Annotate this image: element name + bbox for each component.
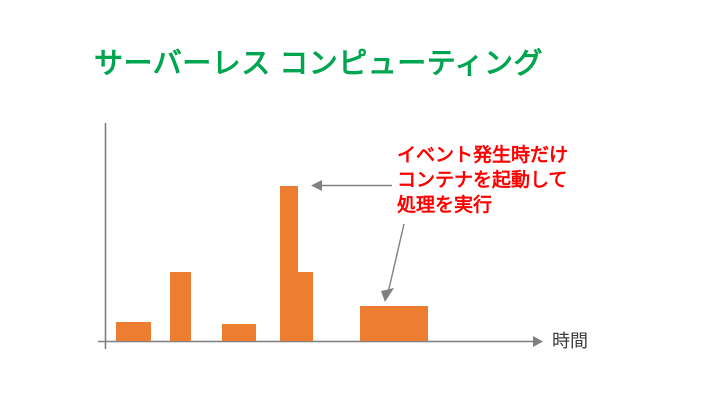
annotation-line-2: コンテナを起動して [397,168,568,193]
bar-chart: 時間 [0,0,719,413]
slide-canvas: サーバーレス コンピューティング 時間 イベント発生時だけ コンテ [0,0,719,413]
annotation-line-3: 処理を実行 [397,193,568,218]
bar-5 [298,272,313,341]
bar-3 [222,324,256,341]
bar-6 [360,306,428,341]
bar-4 [280,186,298,341]
annotation-callout: イベント発生時だけ コンテナを起動して 処理を実行 [397,143,568,218]
bar-1 [116,322,151,341]
bar-2 [170,272,191,341]
annotation-line-1: イベント発生時だけ [397,143,568,168]
x-axis-label: 時間 [552,327,588,353]
bar-series [0,0,719,413]
